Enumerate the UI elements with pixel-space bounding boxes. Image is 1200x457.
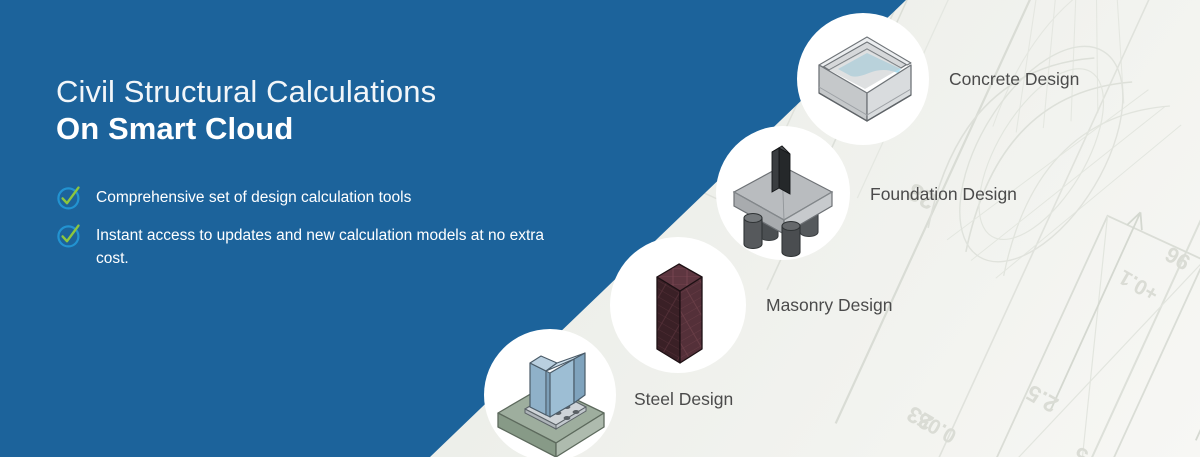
hero-copy: Civil Structural Calculations On Smart C… (56, 74, 616, 284)
steel-baseplate-icon[interactable] (484, 329, 616, 457)
feature-steel-design[interactable]: Steel Design (484, 329, 814, 457)
feature-label: Steel Design (634, 389, 733, 410)
feature-label: Foundation Design (870, 184, 1017, 205)
feature-label: Masonry Design (766, 295, 892, 316)
list-item: Comprehensive set of design calculation … (56, 187, 616, 211)
list-item: Instant access to updates and new calcul… (56, 225, 616, 270)
page-title: Civil Structural Calculations On Smart C… (56, 74, 616, 147)
title-line-2: On Smart Cloud (56, 111, 616, 148)
title-line-1: Civil Structural Calculations (56, 74, 616, 111)
feature-label: Concrete Design (949, 69, 1079, 90)
bullet-text: Instant access to updates and new calcul… (96, 225, 566, 270)
hero-banner: 28 23 0.05 2.5 +0.1 96 5 Civil Structura… (0, 0, 1200, 457)
check-circle-icon (56, 223, 82, 249)
bullet-text: Comprehensive set of design calculation … (96, 187, 411, 209)
feature-bullet-list: Comprehensive set of design calculation … (56, 187, 616, 270)
check-circle-icon (56, 185, 82, 211)
